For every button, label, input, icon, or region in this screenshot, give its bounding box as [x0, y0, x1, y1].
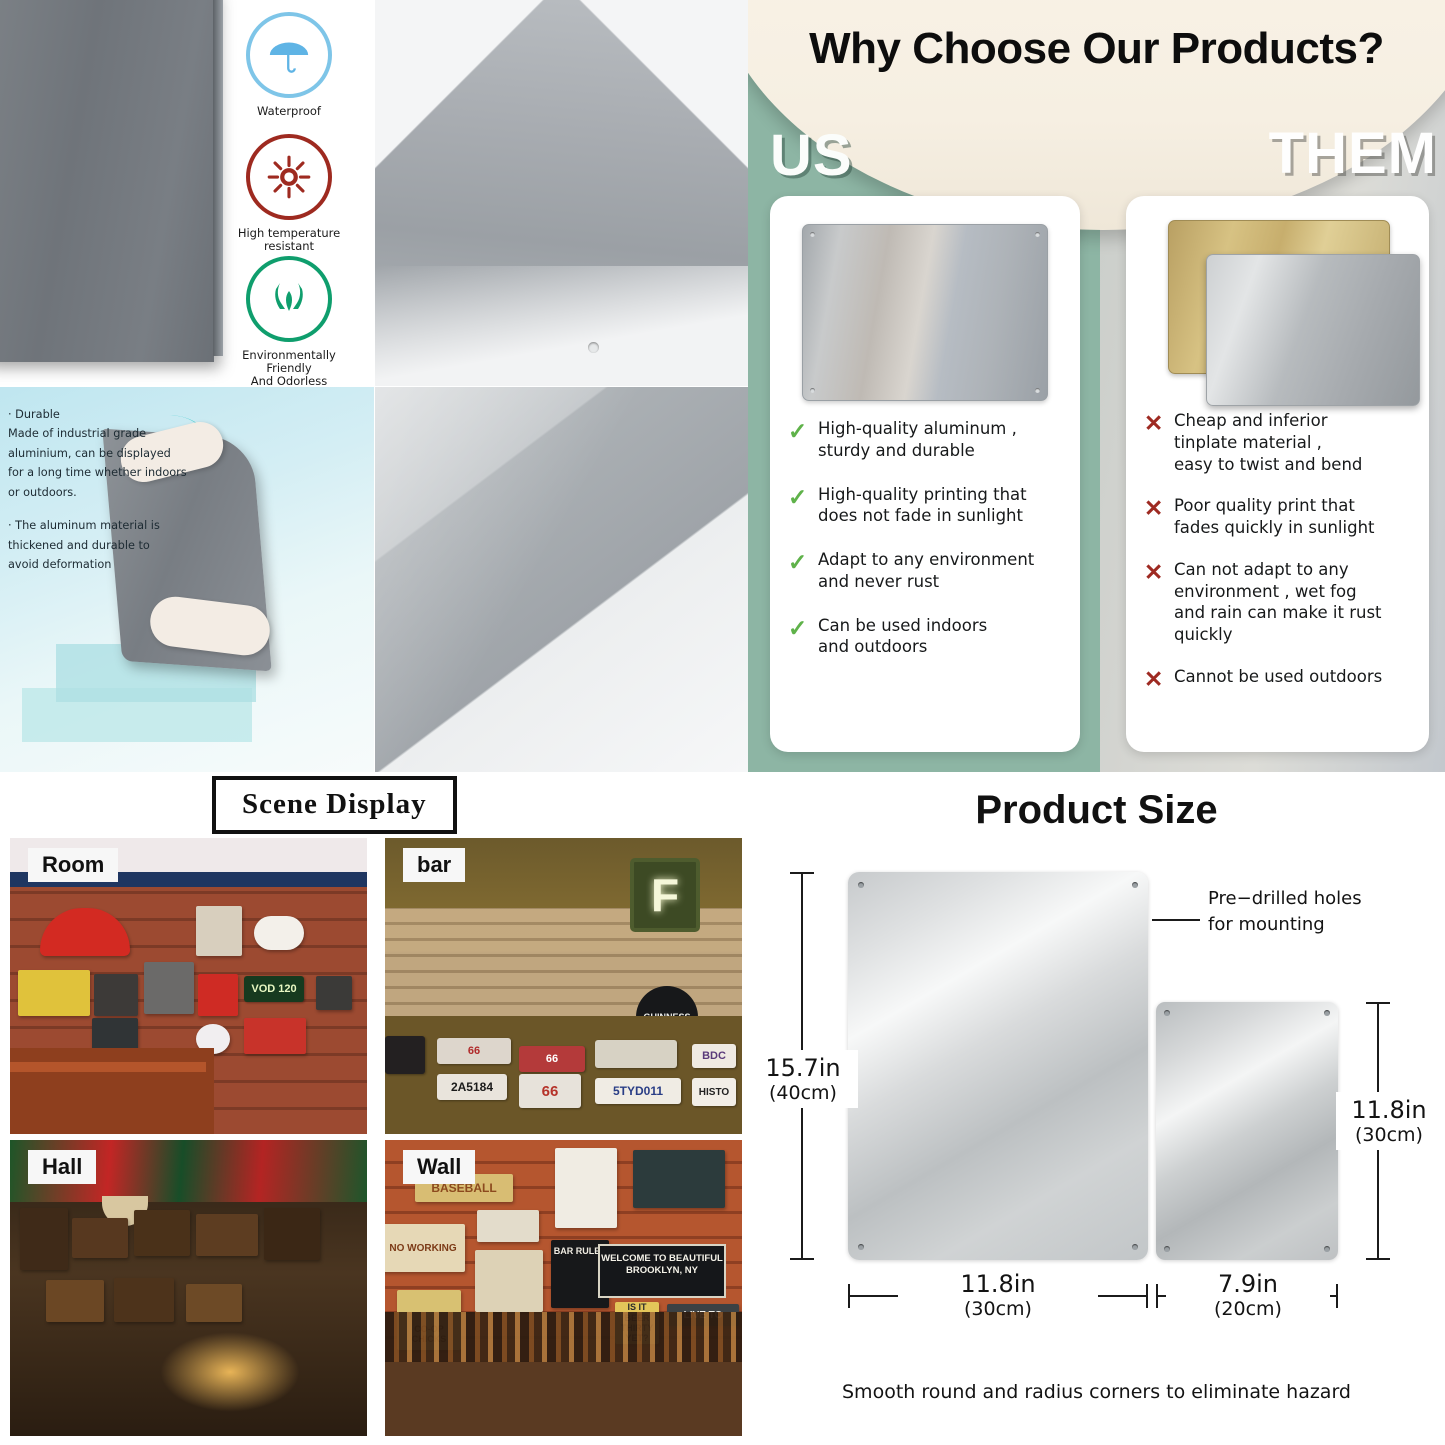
pre-drilled-hole — [1164, 1246, 1170, 1252]
scene-tag-label: Hall — [42, 1154, 82, 1179]
scene-tag-wall: Wall — [403, 1150, 475, 1184]
sign-beer-poster — [475, 1250, 543, 1312]
scene-cell-wall: BASEBALL NO WORKING BAR RULES WELCOME TO… — [385, 1140, 742, 1436]
them-label: THEM — [1269, 120, 1437, 187]
cross-icon: ✕ — [1144, 495, 1174, 520]
sign-oval — [254, 916, 304, 950]
scene-cell-hall: Hall — [10, 1140, 367, 1436]
scene-cell-room: VOD 120 Room — [10, 838, 367, 1134]
dim-value: 11.8in — [898, 1270, 1098, 1298]
list-item-label: Can not adapt to any environment , wet f… — [1174, 559, 1382, 646]
check-icon: ✓ — [788, 615, 818, 640]
scene-display-quadrant: Scene Display VOD 120 — [0, 772, 748, 1445]
list-item-label: Cannot be used outdoors — [1174, 666, 1382, 688]
metal-sheet-diagonal — [375, 387, 748, 772]
sign-license-5tyd011: 5TYD011 — [595, 1078, 681, 1104]
product-size-title: Product Size — [748, 788, 1445, 833]
wall-poster — [186, 1284, 242, 1322]
them-card: ✕ Cheap and inferior tinplate material ,… — [1126, 196, 1429, 752]
header-frame: Scene Display — [212, 776, 457, 834]
hall-warm-glow — [160, 1332, 300, 1412]
dim-small-height: 11.8in (30cm) — [1336, 1092, 1442, 1150]
wall-poster — [114, 1278, 174, 1322]
scene-tag-hall: Hall — [28, 1150, 96, 1184]
pre-drilled-hole — [1324, 1246, 1330, 1252]
sign-route-66: 66 — [519, 1046, 585, 1072]
dim-small-width: 7.9in (20cm) — [1166, 1270, 1330, 1320]
sign-cream — [196, 906, 242, 956]
durable-copy: · Durable Made of industrial grade alumi… — [8, 405, 198, 588]
cross-icon: ✕ — [1144, 559, 1174, 584]
pre-drilled-hole — [1132, 1244, 1138, 1250]
mounting-hole — [810, 388, 815, 393]
them-drawback-list: ✕ Cheap and inferior tinplate material ,… — [1144, 410, 1416, 711]
annotation-leader-line — [1152, 919, 1200, 921]
feature-waterproof: Waterproof — [210, 12, 368, 118]
list-item-label: Cheap and inferior tinplate material , e… — [1174, 410, 1362, 475]
scene-grid: VOD 120 Room F GUINNESS 2A5184 66 66 5TY… — [10, 838, 745, 1438]
hands-plant-icon — [246, 256, 332, 342]
feature-label: Environmentally Friendly And Odorless — [210, 349, 368, 386]
pre-drilled-hole — [858, 1244, 864, 1250]
dim-unit: (20cm) — [1166, 1298, 1330, 1320]
mounting-hole — [1035, 232, 1040, 237]
sign-dark — [92, 1018, 138, 1050]
dim-unit: (40cm) — [748, 1082, 858, 1104]
scene-cell-bar: F GUINNESS 2A5184 66 66 5TYD011 BDC HIST… — [385, 838, 742, 1134]
list-item-label: Poor quality print that fades quickly in… — [1174, 495, 1375, 539]
dim-cap-right — [1336, 1284, 1338, 1308]
check-icon: ✓ — [788, 484, 818, 509]
feature-label: High temperature resistant — [210, 227, 368, 253]
wall-poster — [196, 1214, 258, 1256]
brushed-metal-photo-2 — [375, 387, 748, 772]
feature-eco-friendly: Environmentally Friendly And Odorless — [210, 256, 368, 386]
list-item: ✓ Adapt to any environment and never rus… — [788, 549, 1066, 593]
product-infographic: Waterproof High temperature resistant — [0, 0, 1445, 1445]
check-icon: ✓ — [788, 418, 818, 443]
sign-yellow-car — [18, 970, 90, 1016]
room-desk — [10, 1048, 214, 1134]
sign-bbq — [385, 1036, 425, 1074]
product-hero-photo: Waterproof High temperature resistant — [0, 0, 374, 386]
metal-sheet-corner — [375, 0, 748, 386]
wall-poster — [72, 1218, 128, 1258]
list-item: ✕ Cannot be used outdoors — [1144, 666, 1416, 691]
durable-paragraph-1: · Durable Made of industrial grade alumi… — [8, 405, 198, 502]
scene-display-title: Scene Display — [242, 788, 427, 820]
list-item-label: Can be used indoors and outdoors — [818, 615, 987, 659]
list-item: ✕ Cheap and inferior tinplate material ,… — [1144, 410, 1416, 475]
list-item: ✓ Can be used indoors and outdoors — [788, 615, 1066, 659]
annotation-pre-drilled: Pre−drilled holes for mounting — [1208, 886, 1418, 938]
comparison-quadrant: Why Choose Our Products? US THEM ✓ High-… — [748, 0, 1445, 772]
wall-poster — [134, 1210, 190, 1256]
check-icon: ✓ — [788, 549, 818, 574]
annotation-line-2: for mounting — [1208, 912, 1418, 938]
sign-letter-f: F — [630, 858, 700, 932]
dim-cap-bottom — [1366, 1258, 1390, 1260]
scene-tag-bar: bar — [403, 848, 465, 882]
dim-unit: (30cm) — [898, 1298, 1098, 1320]
sign-framed — [316, 976, 352, 1010]
list-item-label: High-quality printing that does not fade… — [818, 484, 1027, 528]
pre-drilled-hole — [1132, 882, 1138, 888]
sign-red-round — [198, 974, 238, 1016]
wall-poster — [20, 1208, 68, 1270]
sign-license-bdc: BDC — [692, 1044, 736, 1068]
bar-counter — [385, 1362, 742, 1436]
dim-value: 15.7in — [748, 1054, 858, 1082]
sign-coca-cola — [244, 1018, 306, 1054]
wall-poster — [46, 1280, 104, 1322]
sign-license-plate: VOD 120 — [244, 976, 304, 1002]
sign-interior — [144, 962, 194, 1014]
scene-tag-label: Wall — [417, 1154, 461, 1179]
pre-drilled-hole — [858, 882, 864, 888]
sign-flag-66: 66 — [437, 1038, 511, 1064]
pre-drilled-hole — [1164, 1010, 1170, 1016]
aluminium-plate-3d — [0, 0, 214, 362]
sign-hudsons — [633, 1150, 725, 1208]
scene-tag-label: bar — [417, 852, 451, 877]
annotation-line-1: Pre−drilled holes — [1208, 886, 1418, 912]
features-quadrant: Waterproof High temperature resistant — [0, 0, 748, 772]
pre-drilled-hole — [1324, 1010, 1330, 1016]
small-plate-image — [1156, 1002, 1338, 1260]
mounting-hole — [810, 232, 815, 237]
umbrella-icon — [246, 12, 332, 98]
durable-paragraph-2: · The aluminum material is thickened and… — [8, 516, 198, 574]
cross-icon: ✕ — [1144, 410, 1174, 435]
mounting-hole — [1035, 388, 1040, 393]
large-plate-image — [848, 872, 1148, 1260]
mounting-hole — [588, 342, 599, 353]
sign-license-2a5184: 2A5184 — [437, 1074, 507, 1100]
sign-route66-shield: 66 — [519, 1074, 581, 1108]
sign-no-working: NO WORKING — [385, 1224, 465, 1272]
sun-icon — [246, 134, 332, 220]
sign-bus — [477, 1210, 539, 1242]
list-item: ✕ Can not adapt to any environment , wet… — [1144, 559, 1416, 646]
list-item-label: Adapt to any environment and never rust — [818, 549, 1034, 593]
sign-framed-print — [555, 1148, 617, 1228]
scene-display-header: Scene Display — [212, 776, 457, 834]
cross-icon: ✕ — [1144, 666, 1174, 691]
list-item: ✕ Poor quality print that fades quickly … — [1144, 495, 1416, 539]
dim-value: 11.8in — [1336, 1096, 1442, 1124]
sign-license-histo: HISTO — [692, 1078, 736, 1106]
wall-poster — [264, 1208, 320, 1260]
dim-cap-right — [1146, 1284, 1148, 1308]
comparison-title: Why Choose Our Products? — [748, 24, 1445, 74]
feature-label: Waterproof — [210, 105, 368, 118]
list-item: ✓ High-quality aluminum , sturdy and dur… — [788, 418, 1066, 462]
dim-cap-bottom — [790, 1258, 814, 1260]
brushed-metal-photo-1 — [375, 0, 748, 386]
us-product-image — [802, 224, 1048, 401]
us-benefit-list: ✓ High-quality aluminum , sturdy and dur… — [788, 418, 1066, 680]
us-label: US — [770, 122, 853, 189]
dim-value: 7.9in — [1166, 1270, 1330, 1298]
them-silver-plate-image — [1206, 254, 1420, 406]
dim-large-width: 11.8in (30cm) — [898, 1270, 1098, 1320]
feature-high-temperature: High temperature resistant — [210, 134, 368, 253]
sign-brooklyn: WELCOME TO BEAUTIFUL BROOKLYN, NY — [598, 1244, 726, 1298]
dim-large-height: 15.7in (40cm) — [748, 1050, 858, 1108]
dim-unit: (30cm) — [1336, 1124, 1442, 1146]
product-size-quadrant: Product Size Pre−drilled holes for mount… — [748, 772, 1445, 1445]
sign-engine — [94, 974, 138, 1016]
list-item: ✓ High-quality printing that does not fa… — [788, 484, 1066, 528]
scene-tag-label: Room — [42, 852, 104, 877]
scene-tag-room: Room — [28, 848, 118, 882]
list-item-label: High-quality aluminum , sturdy and durab… — [818, 418, 1017, 462]
sign-diamond — [595, 1040, 677, 1068]
bendable-demo-photo: · Durable Made of industrial grade alumi… — [0, 387, 374, 772]
product-size-footer: Smooth round and radius corners to elimi… — [748, 1381, 1445, 1403]
us-card: ✓ High-quality aluminum , sturdy and dur… — [770, 196, 1080, 752]
